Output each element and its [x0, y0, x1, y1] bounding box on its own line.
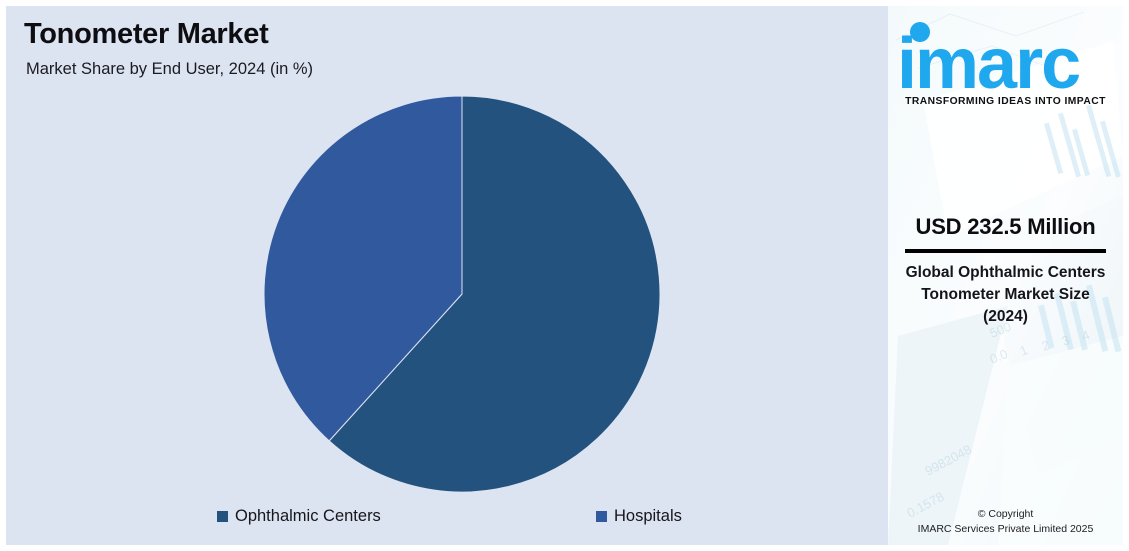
page-title: Tonometer Market: [24, 18, 268, 51]
stat-value: USD 232.5 Million: [888, 214, 1123, 240]
legend-label: Ophthalmic Centers: [235, 507, 381, 526]
stat-divider: [905, 249, 1106, 253]
chart-subtitle: Market Share by End User, 2024 (in %): [26, 60, 313, 79]
copyright-line-1: © Copyright: [888, 507, 1123, 522]
stat-caption: Global Ophthalmic Centers Tonometer Mark…: [900, 262, 1111, 328]
copyright-notice: © Copyright IMARC Services Private Limit…: [888, 507, 1123, 537]
legend-item-ophthalmic-centers[interactable]: Ophthalmic Centers: [217, 507, 381, 526]
infographic-canvas: Tonometer Market Market Share by End Use…: [0, 0, 1129, 551]
legend-swatch-icon: [596, 511, 607, 522]
imarc-logo: imarc TRANSFORMING IDEAS INTO IMPACT: [888, 20, 1123, 107]
legend-label: Hospitals: [614, 507, 682, 526]
pie-chart-svg: [264, 96, 660, 492]
copyright-line-2: IMARC Services Private Limited 2025: [888, 522, 1123, 537]
pie-slices: [264, 96, 660, 492]
legend-item-hospitals[interactable]: Hospitals: [596, 507, 682, 526]
svg-text:imarc: imarc: [897, 24, 1079, 94]
pie-chart: [264, 96, 660, 492]
brand-panel: 0.0 1 2 3 4 500 9982048 0.1578 imarc: [888, 6, 1123, 545]
chart-panel: Tonometer Market Market Share by End Use…: [6, 6, 888, 545]
chart-legend: Ophthalmic Centers Hospitals: [6, 504, 888, 534]
logo-tagline: TRANSFORMING IDEAS INTO IMPACT: [888, 96, 1123, 107]
legend-swatch-icon: [217, 511, 228, 522]
brand-content: imarc TRANSFORMING IDEAS INTO IMPACT USD…: [888, 6, 1123, 545]
imarc-wordmark-icon: imarc: [893, 20, 1119, 94]
